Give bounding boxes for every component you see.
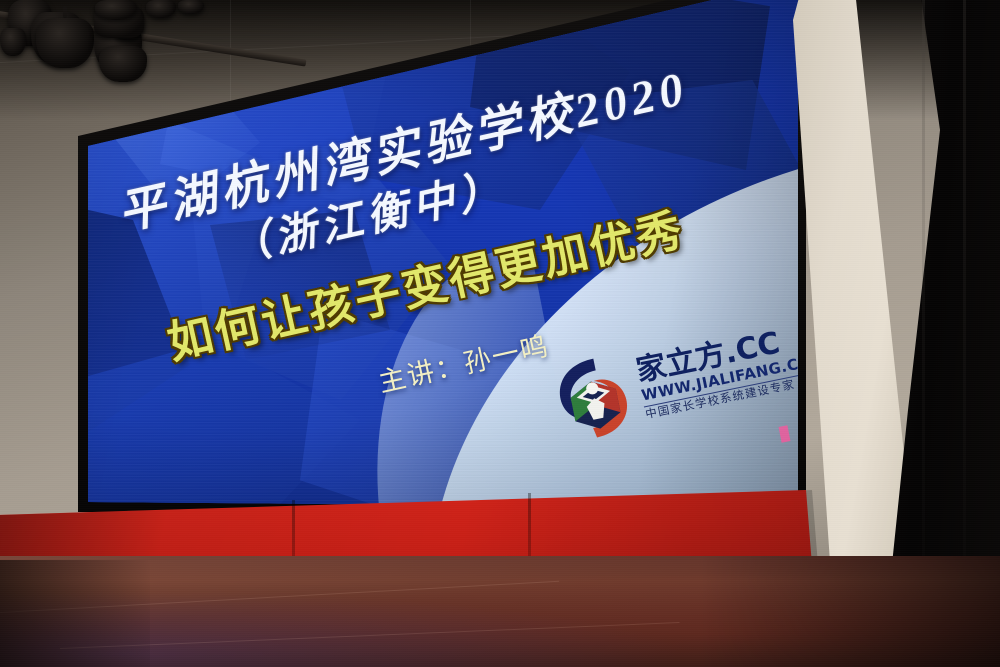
stage-light-fixture [95, 0, 137, 20]
floor-left-shadow [0, 560, 150, 667]
jialifang-cube-swirl-logo-icon [547, 348, 641, 448]
lamp-yoke [63, 6, 67, 18]
auditorium-stage-photo: 平湖杭州湾实验学校2020 （浙江衡中） 如何让孩子变得更加优秀 主讲：孙一鸣 [0, 0, 1000, 667]
stage-light-fixture [0, 28, 26, 56]
stage-light-fixture [146, 0, 176, 18]
logo-text-block: 家立方.CC WWW.JIALIFANG.CC 中国家长学校系统建设专家 [634, 323, 815, 420]
slide-speaker-line: 主讲：孙一鸣 [374, 324, 552, 400]
stage-light-fixture [36, 18, 94, 68]
floor-right-shadow [700, 556, 1000, 667]
stage-light-fixture [99, 46, 147, 82]
stage-light-fixture [178, 0, 204, 14]
